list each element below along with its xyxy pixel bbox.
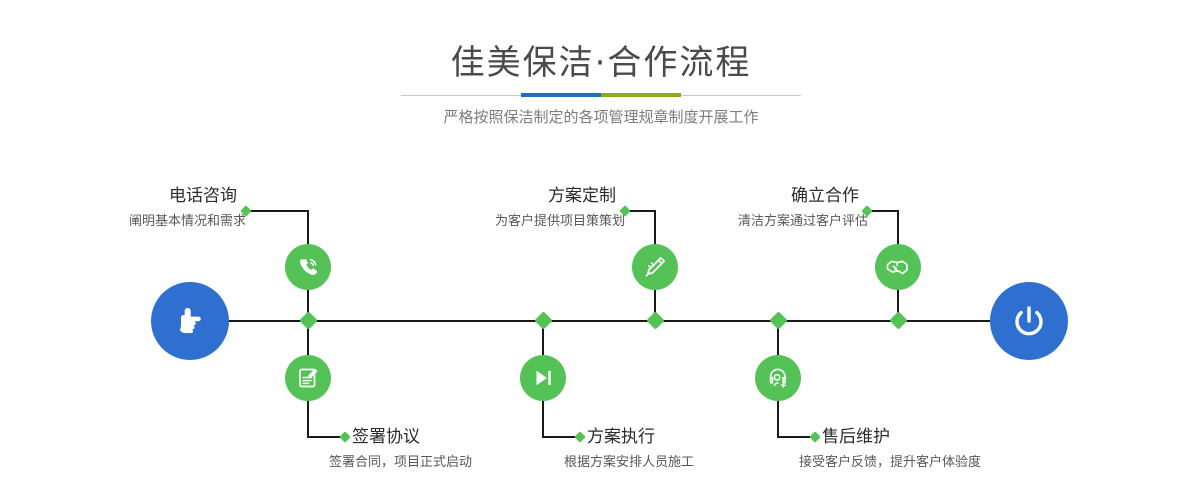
end-node[interactable]: [990, 282, 1068, 360]
axis-marker: [889, 311, 907, 329]
step-icon-sign-agreement[interactable]: [285, 355, 331, 401]
connector-horizontal: [629, 210, 656, 212]
connector-horizontal: [250, 210, 309, 212]
page-subtitle: 严格按照保洁制定的各项管理规章制度开展工作: [0, 105, 1202, 129]
axis-marker: [534, 311, 552, 329]
step-icon-confirm-cooperation[interactable]: [875, 244, 921, 290]
pointing-hand-icon: [169, 300, 211, 342]
play-next-icon: [530, 365, 556, 391]
label-marker: [574, 431, 585, 442]
title-divider: [401, 93, 801, 97]
step-desc-sign-agreement: 签署合同，项目正式启动: [329, 453, 472, 473]
label-marker: [809, 431, 820, 442]
step-icon-plan-custom[interactable]: [632, 244, 678, 290]
step-icon-plan-execute[interactable]: [520, 355, 566, 401]
axis-marker: [646, 311, 664, 329]
phone-call-icon: [295, 254, 321, 280]
step-desc-confirm-cooperation: 清洁方案通过客户评估: [620, 212, 868, 232]
power-icon: [1008, 300, 1050, 342]
step-icon-after-sales[interactable]: [755, 355, 801, 401]
axis-marker: [299, 311, 317, 329]
divider-segment-green: [601, 93, 681, 97]
divider-segment-blue: [521, 93, 601, 97]
flow-diagram-page: 佳美保洁·合作流程 严格按照保洁制定的各项管理规章制度开展工作: [0, 0, 1202, 502]
step-desc-phone-consult: 阐明基本情况和需求: [0, 212, 246, 232]
step-title-after-sales: 售后维护: [822, 426, 890, 448]
axis-marker: [769, 311, 787, 329]
label-marker: [339, 431, 350, 442]
step-title-phone-consult: 电话咨询: [0, 185, 237, 207]
divider-line-right: [681, 95, 801, 96]
step-desc-plan-custom: 为客户提供项目策策划: [380, 212, 625, 232]
step-title-plan-execute: 方案执行: [587, 426, 655, 448]
step-desc-after-sales: 接受客户反馈，提升客户体验度: [799, 453, 981, 473]
document-edit-icon: [295, 365, 321, 391]
divider-line-left: [401, 95, 521, 96]
pencil-edit-icon: [642, 254, 668, 280]
connector-horizontal: [871, 210, 899, 212]
step-icon-phone-consult[interactable]: [285, 244, 331, 290]
handshake-icon: [885, 254, 911, 280]
step-desc-plan-execute: 根据方案安排人员施工: [564, 453, 694, 473]
support-agent-icon: [765, 365, 791, 391]
step-title-sign-agreement: 签署协议: [352, 426, 420, 448]
step-title-plan-custom: 方案定制: [380, 185, 616, 207]
start-node[interactable]: [151, 282, 229, 360]
page-title: 佳美保洁·合作流程: [0, 40, 1202, 86]
step-title-confirm-cooperation: 确立合作: [620, 185, 859, 207]
process-timeline: 电话咨询 阐明基本情况和需求 签署协议 签署合同，项目正式启动: [0, 150, 1202, 502]
page-header: 佳美保洁·合作流程 严格按照保洁制定的各项管理规章制度开展工作: [0, 0, 1202, 150]
